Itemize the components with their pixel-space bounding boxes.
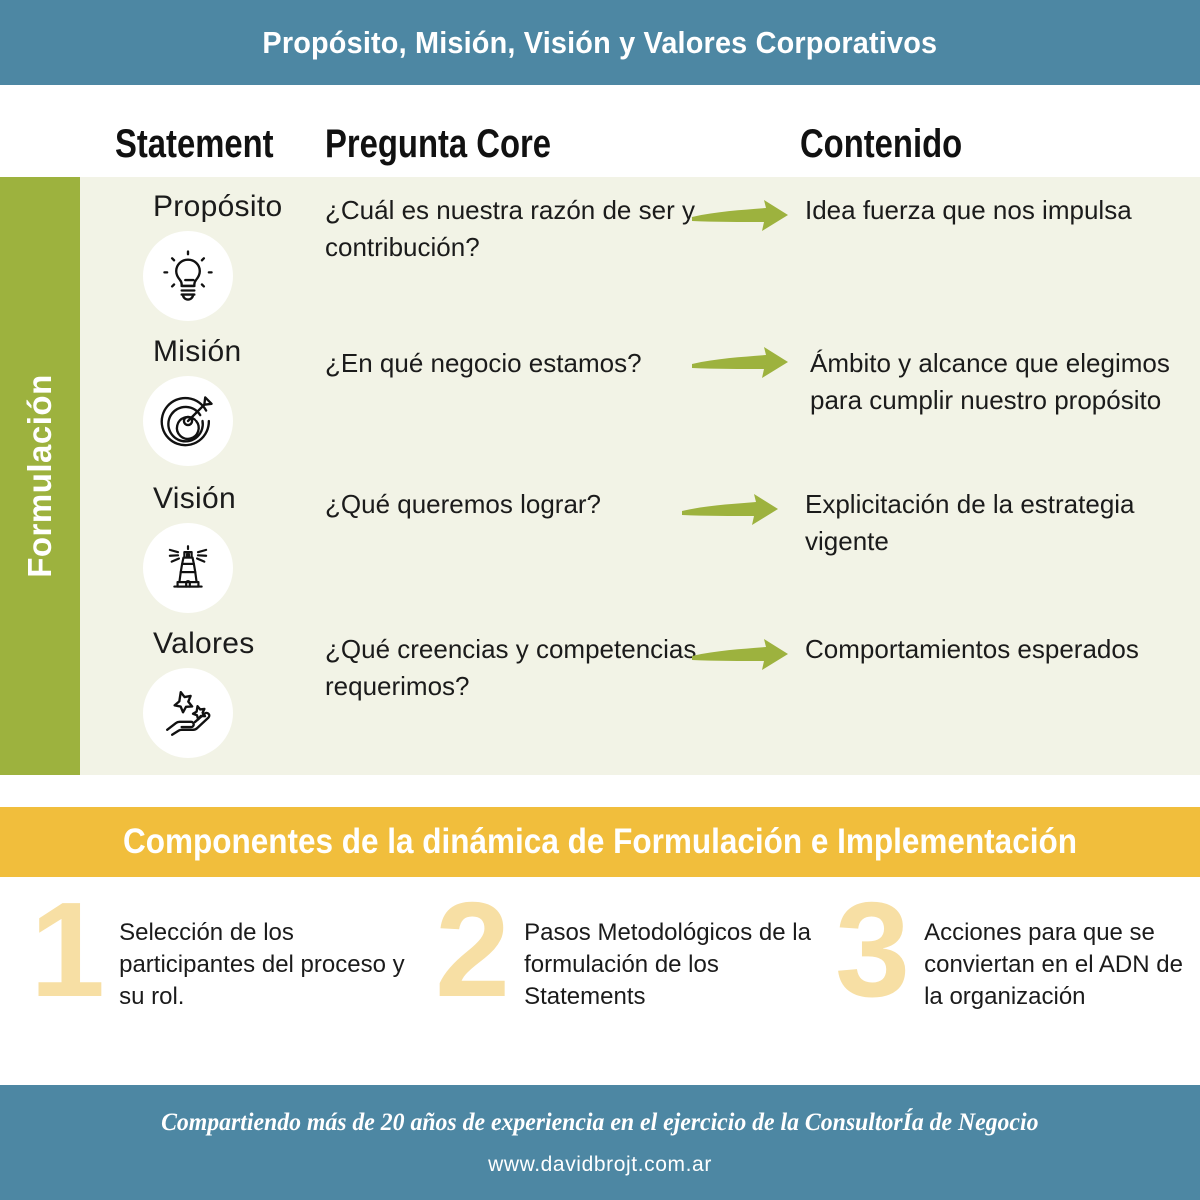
step-item: 3 Acciones para que se conviertan en el … bbox=[835, 895, 1200, 1013]
page-title: Propósito, Misión, Visión y Valores Corp… bbox=[263, 25, 938, 61]
question-text: ¿Qué creencias y competencias requerimos… bbox=[325, 631, 745, 705]
header-banner: Propósito, Misión, Visión y Valores Corp… bbox=[0, 0, 1200, 85]
formulation-rail: Formulación bbox=[0, 177, 80, 775]
statement-cell: Propósito bbox=[115, 190, 345, 321]
statement-cell: Misión bbox=[115, 335, 345, 466]
statement-cell: Visión bbox=[115, 482, 345, 613]
content-text: Idea fuerza que nos impulsa bbox=[805, 192, 1200, 229]
step-text: Selección de los participantes del proce… bbox=[119, 895, 420, 1013]
formulation-rail-label: Formulación bbox=[21, 374, 59, 578]
matrix-row: Visión ¿Qué quere bbox=[80, 482, 1200, 622]
content-text: Ámbito y alcance que elegimos para cumpl… bbox=[810, 345, 1200, 419]
content-text: Comportamientos esperados bbox=[805, 631, 1200, 668]
step-number: 1 bbox=[30, 895, 105, 1006]
step-text: Pasos Metodológicos de la formulación de… bbox=[524, 895, 815, 1013]
lighthouse-icon bbox=[143, 523, 233, 613]
steps-row: 1 Selección de los participantes del pro… bbox=[0, 895, 1200, 1070]
question-text: ¿Cuál es nuestra razón de ser y contribu… bbox=[325, 192, 705, 266]
footer-banner: Compartiendo más de 20 años de experienc… bbox=[0, 1085, 1200, 1200]
components-banner-title: Componentes de la dinámica de Formulació… bbox=[123, 822, 1077, 862]
step-text: Acciones para que se conviertan en el AD… bbox=[924, 895, 1200, 1013]
step-number: 3 bbox=[835, 895, 910, 1006]
statement-label: Visión bbox=[115, 482, 345, 515]
matrix-row: Misión ¿En qué negocio estamos? bbox=[80, 335, 1200, 485]
arrow-right-icon bbox=[680, 492, 790, 532]
step-number: 2 bbox=[435, 895, 510, 1006]
components-banner: Componentes de la dinámica de Formulació… bbox=[0, 807, 1200, 877]
infographic-page: Propósito, Misión, Visión y Valores Corp… bbox=[0, 0, 1200, 1200]
question-text: ¿Qué queremos lograr? bbox=[325, 486, 705, 523]
matrix-row: Valores ¿Qué creencias y competencias re… bbox=[80, 627, 1200, 775]
step-item: 2 Pasos Metodológicos de la formulación … bbox=[435, 895, 815, 1013]
statement-label: Valores bbox=[115, 627, 345, 660]
arrow-right-icon bbox=[690, 637, 800, 677]
statement-cell: Valores bbox=[115, 627, 345, 758]
column-heading-question: Pregunta Core bbox=[325, 122, 551, 167]
content-text: Explicitación de la estrategia vigente bbox=[805, 486, 1200, 560]
matrix-row: Propósito ¿Cuál es nuestra razón de ser … bbox=[80, 190, 1200, 340]
statement-label: Propósito bbox=[115, 190, 345, 223]
lightbulb-icon bbox=[143, 231, 233, 321]
hand-stars-icon bbox=[143, 668, 233, 758]
arrow-right-icon bbox=[690, 198, 800, 238]
target-arrow-icon bbox=[143, 376, 233, 466]
column-heading-statement: Statement bbox=[115, 122, 274, 167]
formulation-matrix: Formulación Propósito ¿Cuál es nuestra r… bbox=[0, 177, 1200, 775]
footer-tagline: Compartiendo más de 20 años de experienc… bbox=[161, 1109, 1038, 1137]
statement-label: Misión bbox=[115, 335, 345, 368]
arrow-right-icon bbox=[690, 345, 800, 385]
question-text: ¿En qué negocio estamos? bbox=[325, 345, 705, 382]
column-heading-content: Contenido bbox=[800, 122, 962, 167]
step-item: 1 Selección de los participantes del pro… bbox=[30, 895, 420, 1013]
column-headings: Statement Pregunta Core Contenido bbox=[0, 85, 1200, 177]
footer-url[interactable]: www.davidbrojt.com.ar bbox=[488, 1153, 712, 1177]
